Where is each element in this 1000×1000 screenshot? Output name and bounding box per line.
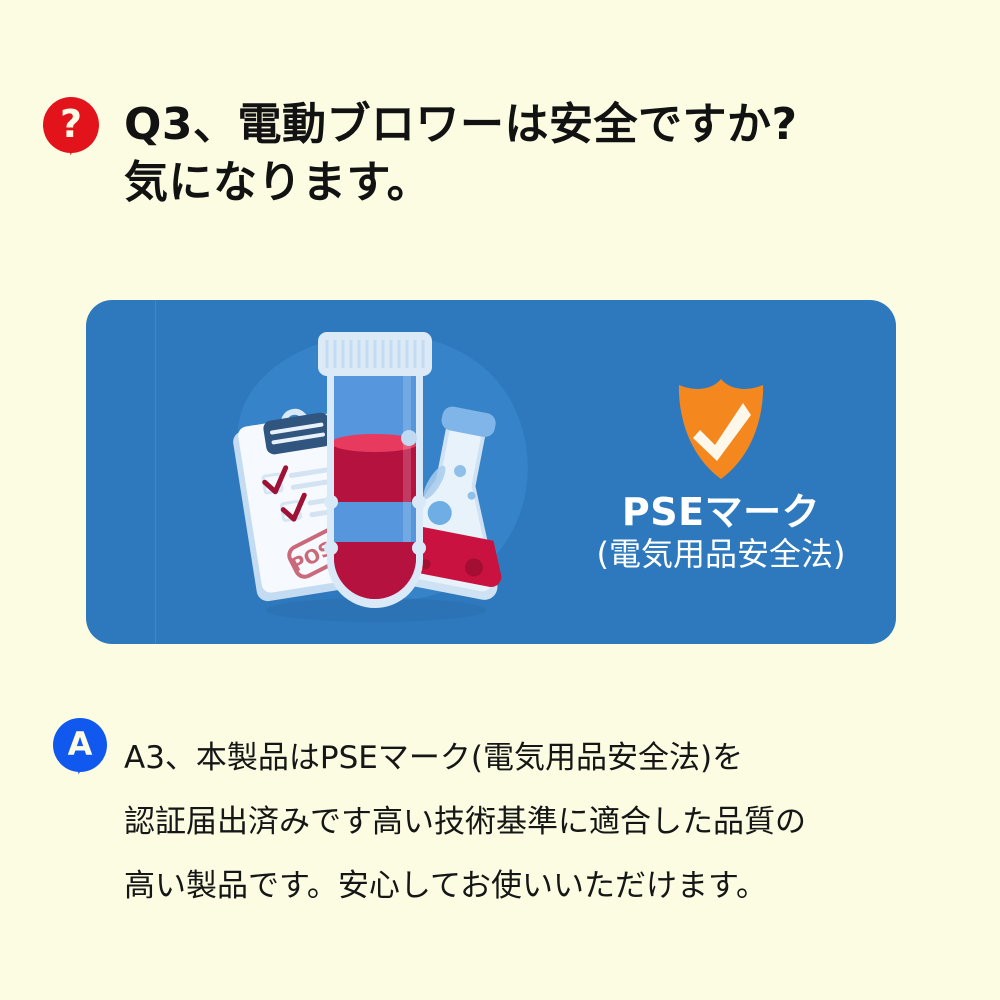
- question-mark-icon: ?: [43, 97, 99, 153]
- answer-badge-icon: A: [53, 718, 107, 772]
- answer-block: A A3、本製品はPSEマーク(電気用品安全法)を 認証届出済みです高い技術基準…: [0, 700, 1000, 960]
- question-badge-label: ?: [43, 97, 99, 153]
- answer-text: A3、本製品はPSEマーク(電気用品安全法)を 認証届出済みです高い技術基準に適…: [124, 726, 924, 918]
- pse-info-card: POSITIVE: [86, 300, 896, 644]
- lab-test-illustration: POSITIVE: [181, 310, 561, 640]
- shield-check-icon: [671, 375, 771, 483]
- question-block: ? Q3、電動ブロワーは安全ですか? 気になります。: [0, 0, 1000, 250]
- question-text: Q3、電動ブロワーは安全ですか? 気になります。: [124, 96, 924, 212]
- card-seam-divider: [155, 300, 156, 644]
- pse-subtitle: (電気用品安全法): [556, 535, 886, 573]
- test-tube-icon: [318, 332, 432, 612]
- pse-title: PSEマーク: [556, 491, 886, 533]
- pse-mark-group: PSEマーク (電気用品安全法): [556, 375, 886, 590]
- answer-badge-label: A: [53, 718, 107, 772]
